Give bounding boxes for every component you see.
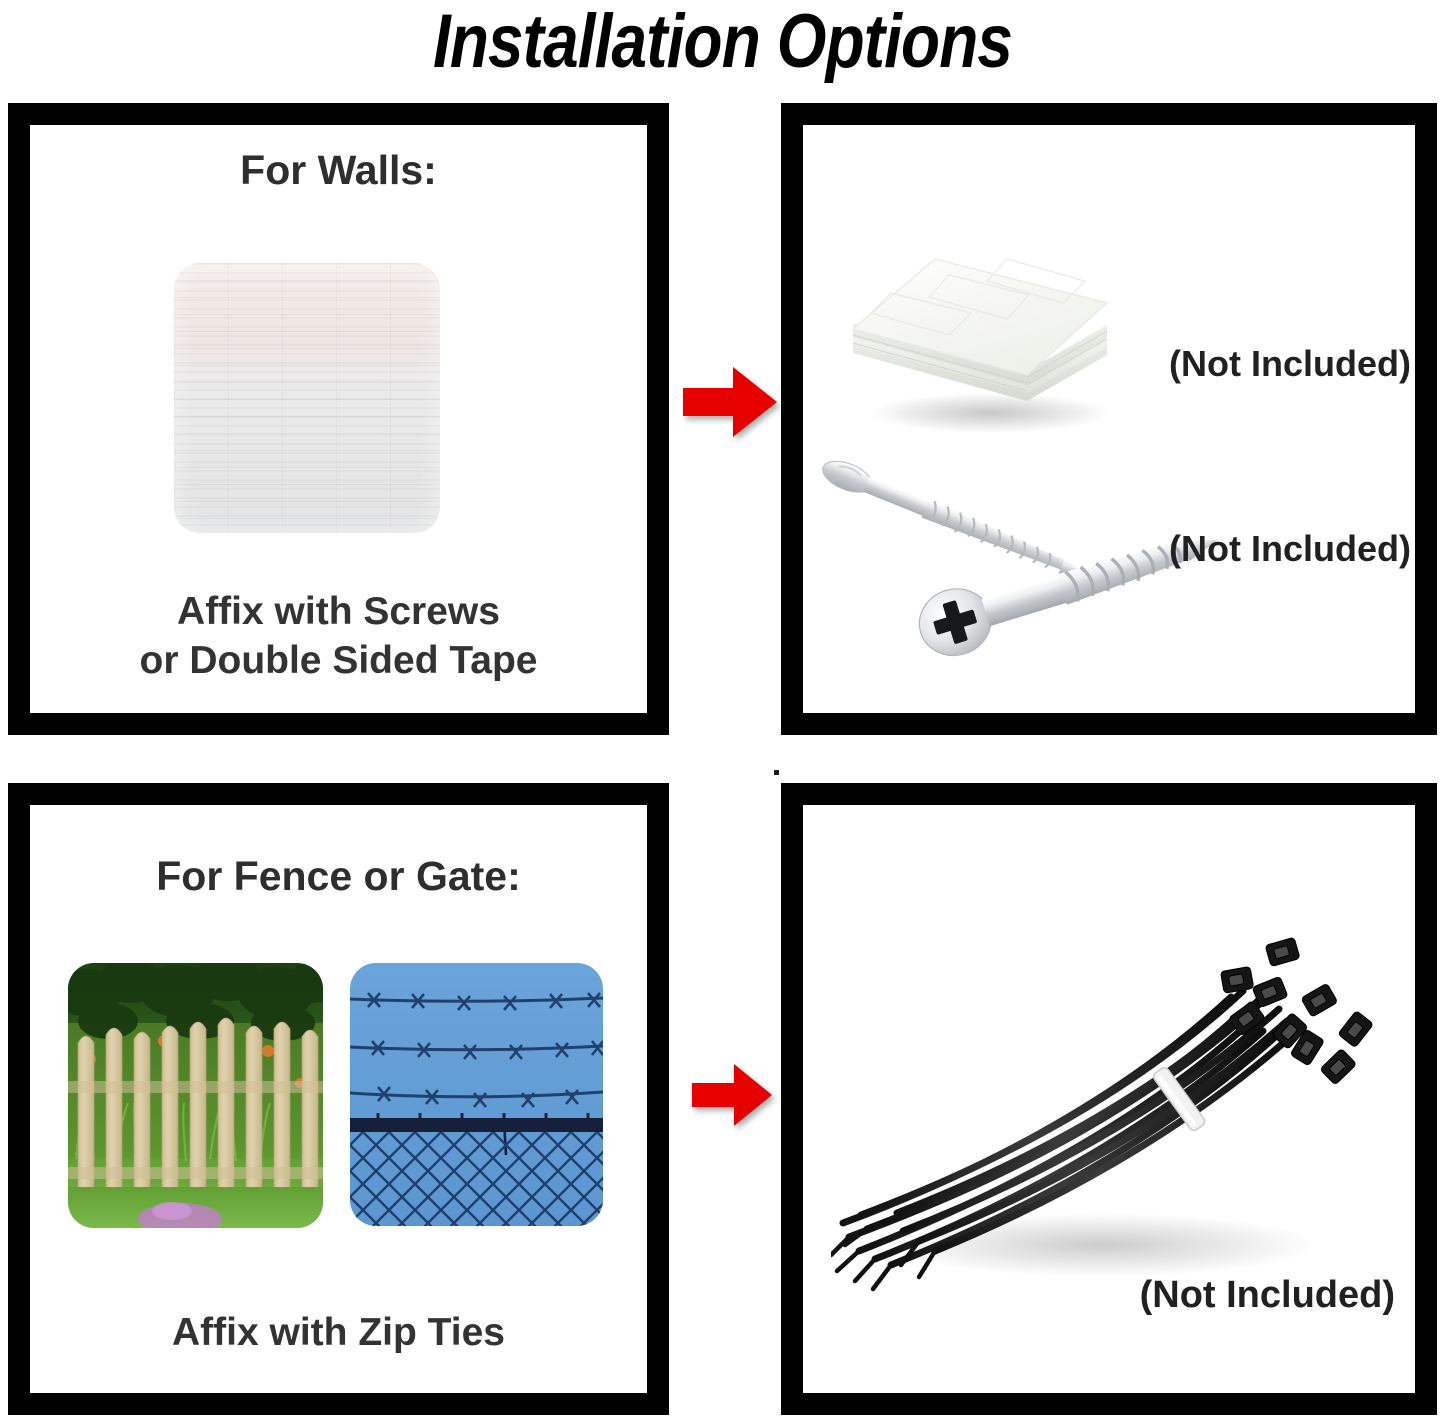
image-artifact-speck [774,770,779,775]
tape-not-included-label: (Not Included) [1169,343,1411,385]
panel-zip-ties-content: (Not Included) [803,805,1415,1393]
red-right-arrow-icon [692,1061,772,1129]
panel-for-walls: For Walls: Affix with Screws or Double S… [8,103,669,735]
white-brick-wall-image [174,263,440,533]
caption-line-2: or Double Sided Tape [30,636,647,685]
installation-options-infographic: Installation Options For Walls: Affix wi… [0,0,1445,1422]
caption-line-1: Affix with Zip Ties [30,1308,647,1357]
panel-zip-ties: (Not Included) [781,783,1437,1415]
page-title: Installation Options [116,0,1330,88]
picket-fence-photo [68,963,323,1228]
red-right-arrow-icon [683,363,777,441]
zipties-not-included-label: (Not Included) [1140,1274,1395,1317]
caption-line-1: Affix with Screws [30,587,647,636]
panel-fasteners-content: (Not Included) [803,125,1415,713]
heading-for-walls: For Walls: [30,147,647,194]
chain-link-fence-photo [350,963,603,1226]
double-sided-tape-stack-image [831,225,1131,437]
screws-not-included-label: (Not Included) [1169,528,1411,570]
panel-for-fence-or-gate: For Fence or Gate: [8,783,669,1415]
panel-fasteners: (Not Included) [781,103,1437,735]
panel-for-walls-content: For Walls: Affix with Screws or Double S… [30,125,647,713]
heading-for-fence-or-gate: For Fence or Gate: [30,853,647,900]
zip-tie-bundle-image [831,885,1391,1315]
caption-for-walls: Affix with Screws or Double Sided Tape [30,587,647,685]
panel-for-fence-content: For Fence or Gate: [30,805,647,1393]
caption-for-fence: Affix with Zip Ties [30,1308,647,1357]
